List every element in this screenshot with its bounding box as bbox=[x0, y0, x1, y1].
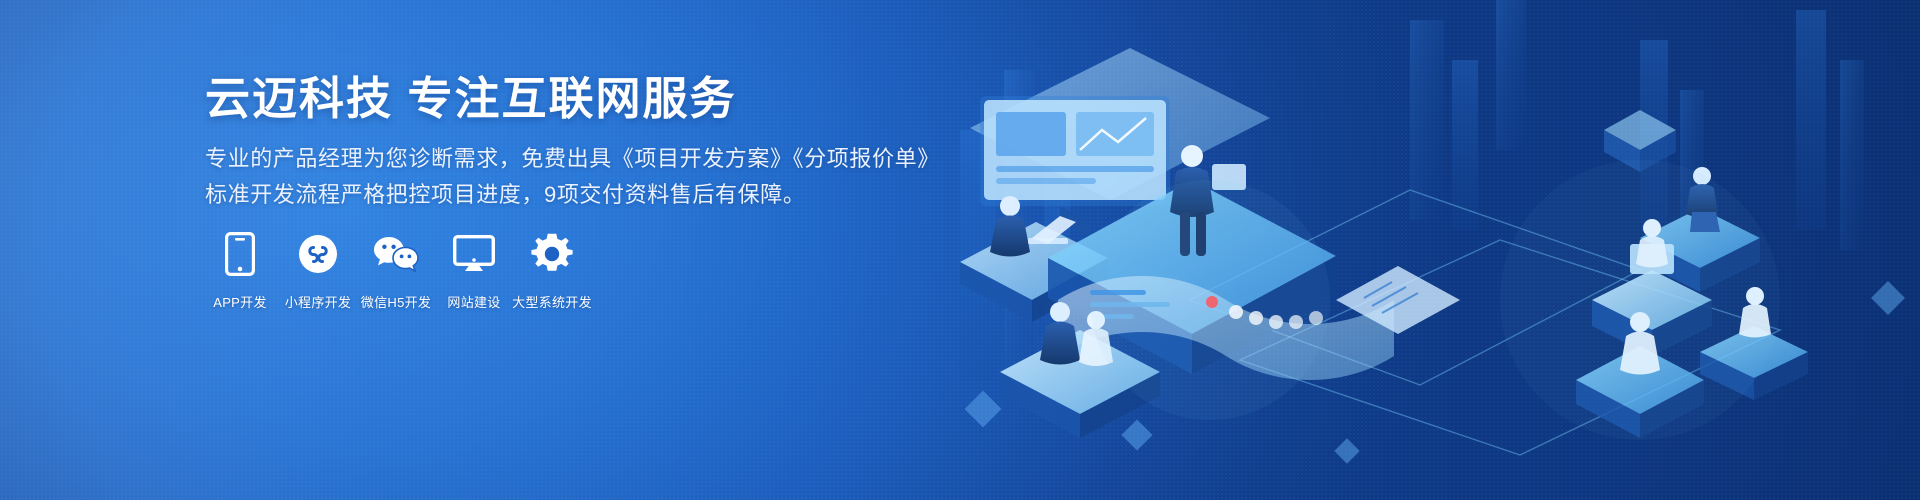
gear-icon bbox=[531, 232, 573, 276]
subtitle-line-1: 专业的产品经理为您诊断需求，免费出具《项目开发方案》《分项报价单》 bbox=[205, 141, 925, 177]
subtitle-line-2: 标准开发流程严格把控项目进度，9项交付资料售后有保障。 bbox=[205, 177, 925, 213]
service-item-mini-program[interactable]: 小程序开发 bbox=[281, 232, 355, 311]
service-item-website[interactable]: 网站建设 bbox=[437, 232, 511, 311]
service-label: APP开发 bbox=[213, 292, 267, 311]
page-title: 云迈科技 专注互联网服务 bbox=[205, 72, 925, 125]
banner-copy: 云迈科技 专注互联网服务 专业的产品经理为您诊断需求，免费出具《项目开发方案》《… bbox=[205, 72, 925, 212]
service-item-large-system[interactable]: 大型系统开发 bbox=[515, 232, 589, 311]
service-label: 大型系统开发 bbox=[512, 292, 592, 311]
promo-banner: 云迈科技 专注互联网服务 专业的产品经理为您诊断需求，免费出具《项目开发方案》《… bbox=[0, 0, 1920, 500]
service-item-wechat-h5[interactable]: 微信H5开发 bbox=[359, 232, 433, 311]
service-item-app[interactable]: APP开发 bbox=[203, 232, 277, 311]
service-label: 网站建设 bbox=[447, 292, 500, 311]
mini-program-icon bbox=[298, 232, 338, 276]
wechat-icon bbox=[373, 232, 419, 276]
service-label: 微信H5开发 bbox=[361, 292, 431, 311]
service-label: 小程序开发 bbox=[285, 292, 352, 311]
phone-icon bbox=[225, 232, 255, 276]
service-list: APP开发 小程序开发 bbox=[203, 232, 593, 311]
monitor-icon bbox=[453, 232, 495, 276]
